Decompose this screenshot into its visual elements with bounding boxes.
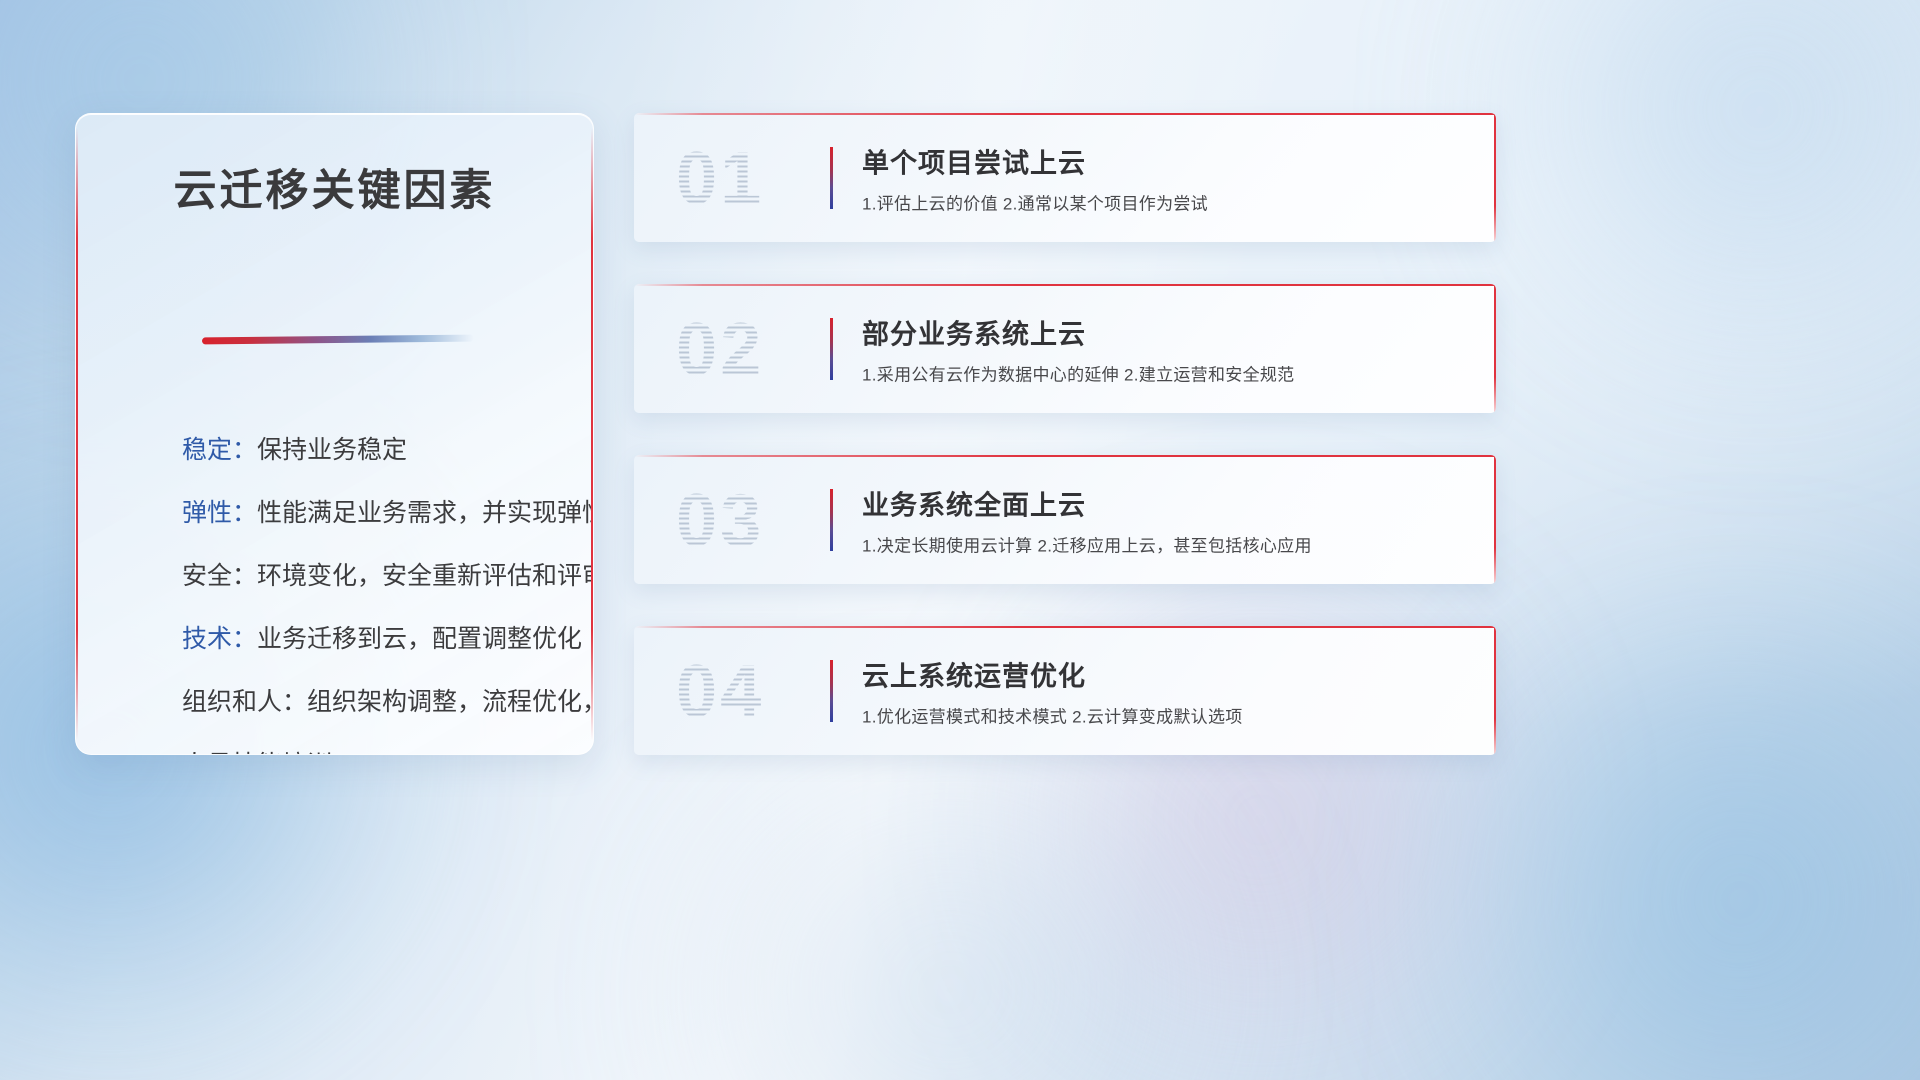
divider-bar (830, 147, 833, 209)
factor-text: 环境变化，安全重新评估和评审 (257, 562, 594, 590)
factor-row: 弹性：性能满足业务需求，并实现弹性 (182, 482, 567, 545)
factor-row: 稳定：保持业务稳定 (182, 419, 567, 482)
factor-row: 安全：环境变化，安全重新评估和评审 (182, 545, 567, 608)
factor-row: 组织和人：组织架构调整，流程优化， (182, 671, 567, 734)
step-title: 部分业务系统上云 (862, 312, 1466, 351)
step-card[interactable]: 01单个项目尝试上云1.评估上云的价值 2.通常以某个项目作为尝试 (634, 113, 1496, 242)
step-number: 03 (676, 477, 764, 562)
step-title: 单个项目尝试上云 (862, 141, 1466, 180)
step-card-body: 云上系统运营优化1.优化运营模式和技术模式 2.云计算变成默认选项 (862, 654, 1466, 727)
factor-text: 保持业务稳定 (257, 436, 407, 464)
divider-bar (830, 660, 833, 722)
factor-key: 安全： (182, 562, 257, 590)
factor-text: 组织架构调整，流程优化， (307, 688, 594, 716)
factor-text: 业务迁移到云，配置调整优化 (257, 625, 582, 653)
factor-list: 稳定：保持业务稳定弹性：性能满足业务需求，并实现弹性安全：环境变化，安全重新评估… (182, 419, 567, 755)
step-card-body: 单个项目尝试上云1.评估上云的价值 2.通常以某个项目作为尝试 (862, 141, 1466, 214)
migration-steps-list: 01单个项目尝试上云1.评估上云的价值 2.通常以某个项目作为尝试02部分业务系… (634, 113, 1496, 755)
step-description: 1.评估上云的价值 2.通常以某个项目作为尝试 (862, 189, 1466, 214)
step-card[interactable]: 03业务系统全面上云1.决定长期使用云计算 2.迁移应用上云，甚至包括核心应用 (634, 455, 1496, 584)
factor-row: 人员技能培训 (182, 734, 567, 755)
page-title: 云迁移关键因素 (76, 156, 593, 218)
factor-text: 性能满足业务需求，并实现弹性 (257, 499, 594, 527)
factor-row: 技术：业务迁移到云，配置调整优化 (182, 608, 567, 671)
factor-text: 人员技能培训 (182, 751, 332, 755)
factor-key: 弹性： (182, 499, 257, 527)
step-title: 业务系统全面上云 (862, 483, 1466, 522)
key-factors-panel: 云迁移关键因素 稳定：保持业务稳定弹性：性能满足业务需求，并实现弹性安全：环境变… (75, 113, 594, 755)
step-number: 04 (676, 648, 764, 733)
step-card-body: 部分业务系统上云1.采用公有云作为数据中心的延伸 2.建立运营和安全规范 (862, 312, 1466, 385)
factor-key: 组织和人： (182, 688, 307, 716)
divider-bar (830, 489, 833, 551)
step-card[interactable]: 02部分业务系统上云1.采用公有云作为数据中心的延伸 2.建立运营和安全规范 (634, 284, 1496, 413)
step-card[interactable]: 04云上系统运营优化1.优化运营模式和技术模式 2.云计算变成默认选项 (634, 626, 1496, 755)
title-underline-accent (202, 335, 474, 345)
step-number: 02 (676, 306, 764, 391)
factor-key: 稳定： (182, 436, 257, 464)
step-description: 1.采用公有云作为数据中心的延伸 2.建立运营和安全规范 (862, 360, 1466, 385)
step-description: 1.决定长期使用云计算 2.迁移应用上云，甚至包括核心应用 (862, 531, 1466, 556)
step-card-body: 业务系统全面上云1.决定长期使用云计算 2.迁移应用上云，甚至包括核心应用 (862, 483, 1466, 556)
step-description: 1.优化运营模式和技术模式 2.云计算变成默认选项 (862, 702, 1466, 727)
divider-bar (830, 318, 833, 380)
step-title: 云上系统运营优化 (862, 654, 1466, 693)
step-number: 01 (676, 135, 764, 220)
factor-key: 技术： (182, 625, 257, 653)
